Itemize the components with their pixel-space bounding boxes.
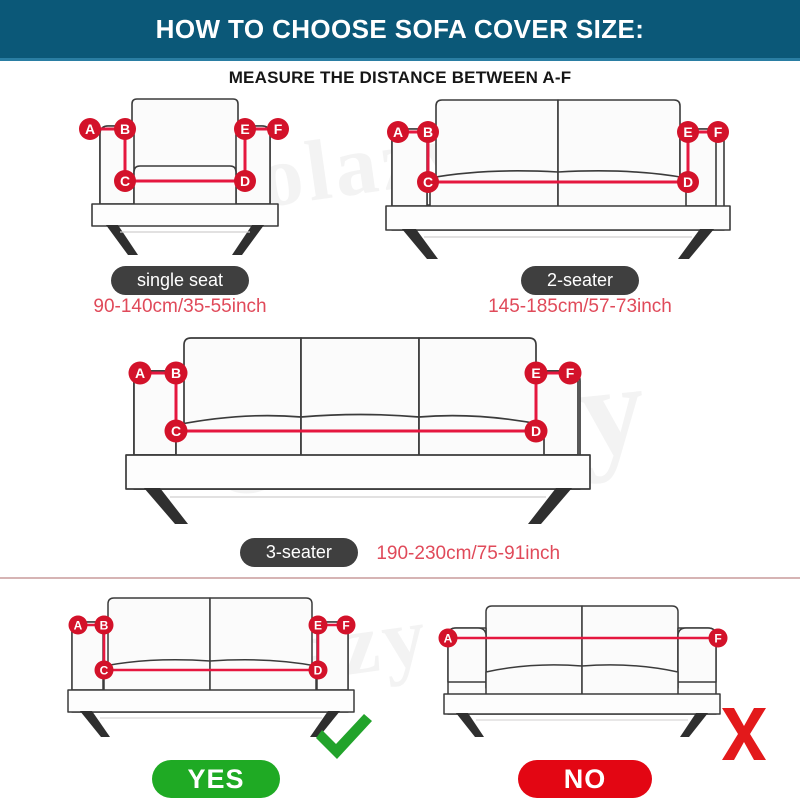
page-header: HOW TO CHOOSE SOFA COVER SIZE: xyxy=(0,0,800,58)
sofa-diagram-single-seat: A B C D E F xyxy=(70,92,300,264)
sofa-diagram-three-seater: A B C D E F xyxy=(118,333,698,533)
marker-a-label: A xyxy=(85,121,95,137)
marker-a-label: A xyxy=(74,619,83,633)
marker-c-label: C xyxy=(171,423,181,439)
marker-f-label: F xyxy=(342,619,349,633)
yes-button[interactable]: YES xyxy=(152,760,280,798)
marker-f-label: F xyxy=(274,121,283,137)
sofa-diagram-two-seater: A B C D E F xyxy=(378,96,738,266)
marker-d-label: D xyxy=(531,423,541,439)
marker-e-label: E xyxy=(531,365,540,381)
marker-a-label: A xyxy=(135,365,145,381)
marker-f-label: F xyxy=(566,365,575,381)
marker-f-label: F xyxy=(714,632,721,646)
section-divider xyxy=(0,577,800,579)
three-seater-dimension: 190-230cm/75-91inch xyxy=(376,543,560,564)
single-seat-pill: single seat xyxy=(111,266,249,295)
single-seat-dimension-wrap: 90-140cm/35-55inch xyxy=(0,295,360,319)
single-seat-dimension: 90-140cm/35-55inch xyxy=(93,296,266,317)
single-seat-measure-overlay: A B C D E F xyxy=(70,92,300,264)
check-mark-icon xyxy=(312,712,376,764)
two-seater-measure-overlay: A B C D E F xyxy=(378,96,738,266)
marker-f-label: F xyxy=(714,124,723,140)
marker-e-label: E xyxy=(683,124,692,140)
infographic-page: HOW TO CHOOSE SOFA COVER SIZE: MEASURE T… xyxy=(0,0,800,800)
marker-a-label: A xyxy=(444,632,453,646)
marker-e-label: E xyxy=(314,619,322,633)
marker-b-label: B xyxy=(120,121,130,137)
incorrect-sofa-measure-overlay: A F xyxy=(432,594,732,744)
two-seater-pill: 2-seater xyxy=(521,266,639,295)
three-seater-caption: 3-seater 190-230cm/75-91inch xyxy=(0,538,800,567)
marker-b-label: B xyxy=(171,365,181,381)
sofa-diagram-incorrect: A F xyxy=(432,594,732,744)
page-title: HOW TO CHOOSE SOFA COVER SIZE: xyxy=(156,14,645,45)
marker-d-label: D xyxy=(314,664,323,678)
marker-c-label: C xyxy=(120,173,130,189)
three-seater-measure-overlay: A B C D E F xyxy=(118,333,698,533)
marker-d-label: D xyxy=(240,173,250,189)
marker-d-label: D xyxy=(683,174,693,190)
marker-b-label: B xyxy=(423,124,433,140)
single-seat-caption: single seat xyxy=(0,266,360,295)
two-seater-caption: 2-seater xyxy=(400,266,760,295)
marker-b-label: B xyxy=(100,619,109,633)
header-underline xyxy=(0,58,800,61)
subtitle: MEASURE THE DISTANCE BETWEEN A-F xyxy=(0,68,800,88)
two-seater-dimension-wrap: 145-185cm/57-73inch xyxy=(400,295,760,319)
marker-c-label: C xyxy=(100,664,109,678)
marker-e-label: E xyxy=(240,121,249,137)
marker-a-label: A xyxy=(393,124,403,140)
no-button[interactable]: NO xyxy=(518,760,652,798)
three-seater-pill: 3-seater xyxy=(240,538,358,567)
yes-button-label: YES xyxy=(187,764,244,795)
marker-c-label: C xyxy=(423,174,433,190)
two-seater-dimension: 145-185cm/57-73inch xyxy=(488,296,672,317)
no-button-label: NO xyxy=(564,764,607,795)
cross-mark-icon xyxy=(718,706,770,762)
